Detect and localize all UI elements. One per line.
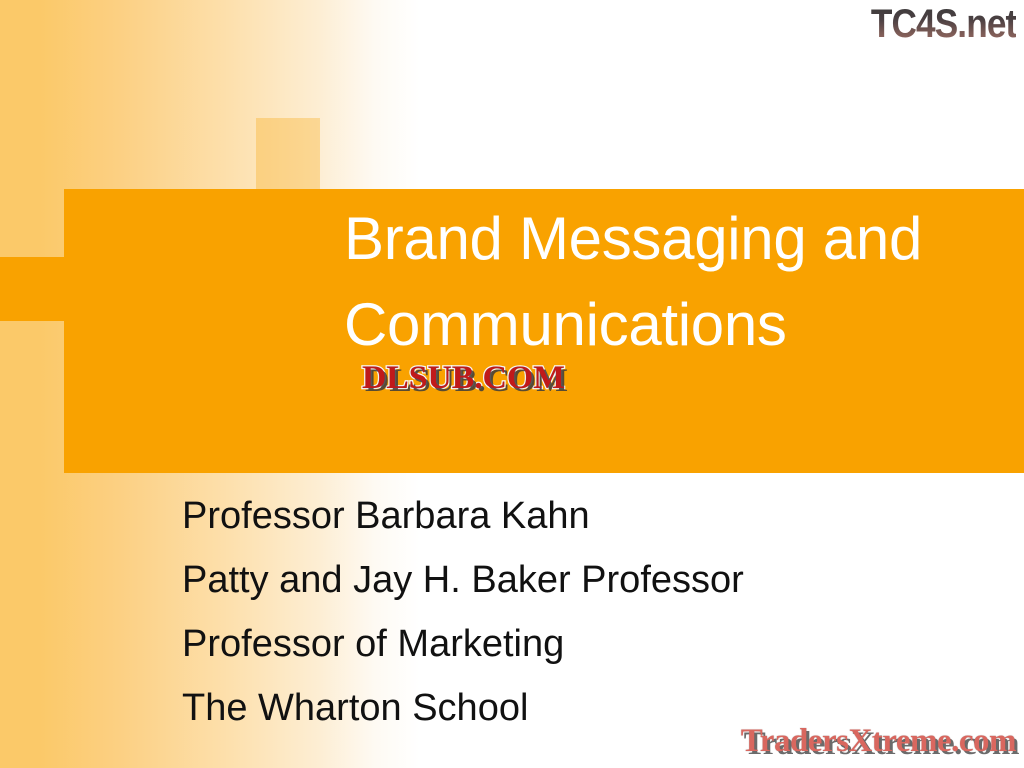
watermark-tradersxtreme: TradersXtreme.com <box>741 723 1016 760</box>
watermark-tc4s: TC4S.net <box>870 2 1016 47</box>
mosaic-square <box>0 257 64 321</box>
slide-subtitle: Professor Barbara Kahn Patty and Jay H. … <box>182 484 982 740</box>
watermark-dlsub: DLSUB.COM <box>362 360 565 397</box>
subtitle-line: Professor Barbara Kahn <box>182 484 982 548</box>
mosaic-square <box>256 118 320 189</box>
slide-title: Brand Messaging and Communications <box>344 196 1020 368</box>
subtitle-line: Patty and Jay H. Baker Professor <box>182 548 982 612</box>
subtitle-line: Professor of Marketing <box>182 612 982 676</box>
presentation-slide: Brand Messaging and Communications Profe… <box>0 0 1024 768</box>
